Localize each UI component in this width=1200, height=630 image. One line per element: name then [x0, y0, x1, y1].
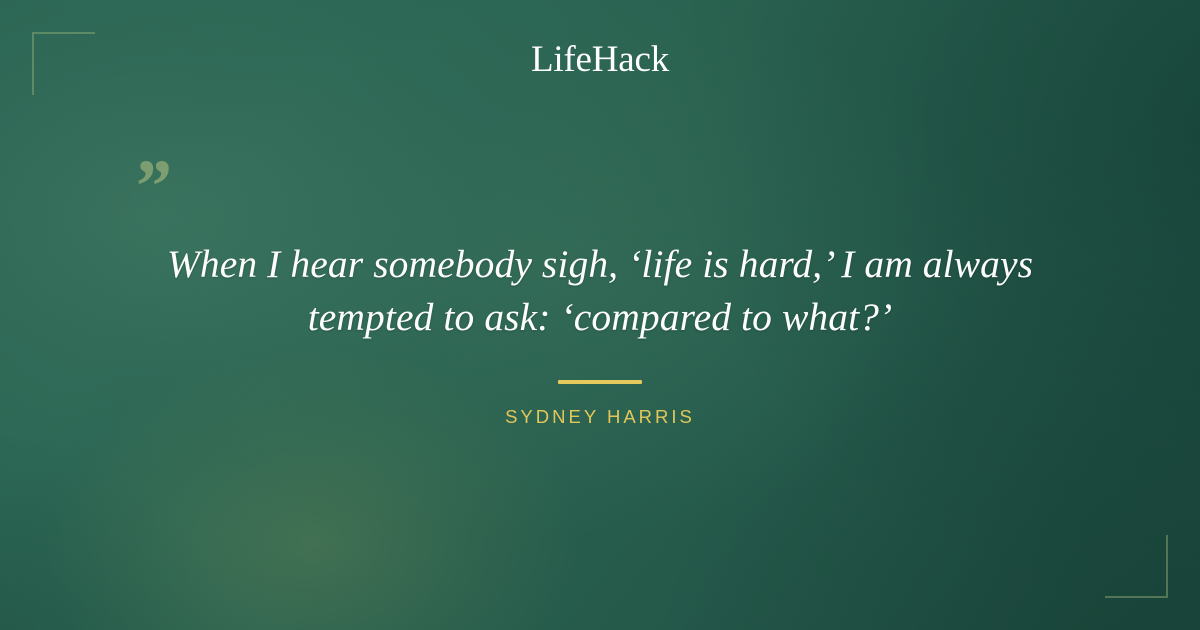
quote-block: ” When I hear somebody sigh, ‘life is ha…	[0, 160, 1200, 428]
quote-line: When I hear somebody sigh, ‘life is hard…	[130, 238, 1070, 291]
quote-text: When I hear somebody sigh, ‘life is hard…	[130, 238, 1070, 344]
gold-divider	[558, 380, 642, 384]
corner-bracket-bottom-right	[1105, 535, 1168, 598]
quote-card: LifeHack ” When I hear somebody sigh, ‘l…	[0, 0, 1200, 630]
brand-logo: LifeHack	[0, 41, 1200, 78]
quote-author: SYDNEY HARRIS	[0, 406, 1200, 428]
quotation-mark-icon: ”	[132, 160, 168, 215]
quote-line: tempted to ask: ‘compared to what?’	[130, 291, 1070, 344]
